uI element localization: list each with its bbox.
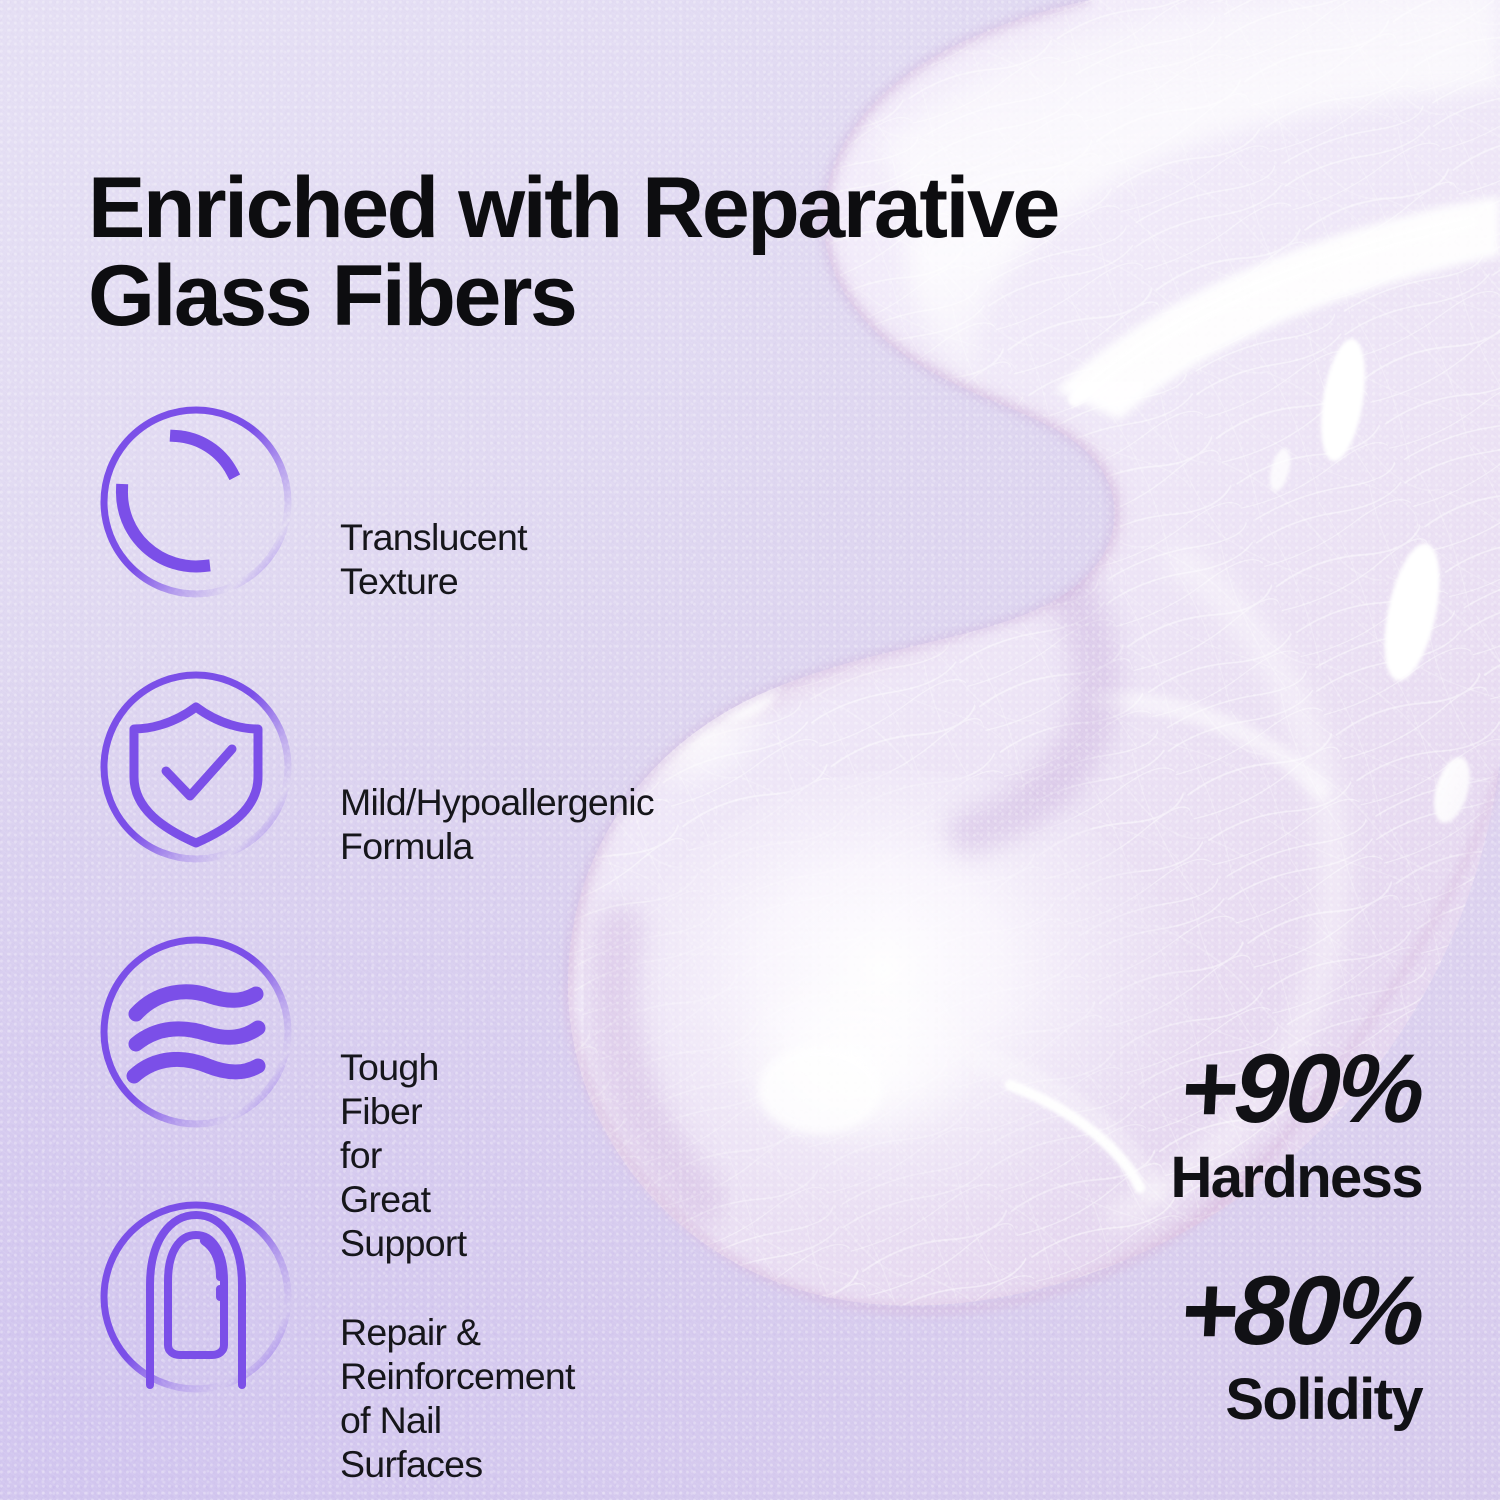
- translucent-drop-icon: [92, 398, 300, 606]
- feature-label: Translucent Texture: [340, 516, 527, 604]
- stat-value: +80%: [1168, 1262, 1425, 1358]
- stats-block: +90% Hardness +80% Solidity: [1170, 1040, 1422, 1432]
- stat-label: Solidity: [1170, 1368, 1422, 1432]
- feature-label: Mild/Hypoallergenic Formula: [340, 781, 654, 869]
- stat-solidity: +80% Solidity: [1170, 1262, 1422, 1432]
- feature-label: Repair & Reinforcement of Nail Surfaces: [340, 1311, 575, 1487]
- stat-value: +90%: [1168, 1040, 1425, 1136]
- fingernail-icon: [92, 1193, 300, 1401]
- stat-hardness: +90% Hardness: [1170, 1040, 1422, 1210]
- product-feature-banner: Enriched with Reparative Glass Fibers: [0, 0, 1500, 1500]
- shield-check-icon: [92, 663, 300, 871]
- page-title: Enriched with Reparative Glass Fibers: [88, 164, 1268, 341]
- stat-label: Hardness: [1170, 1146, 1422, 1210]
- fiber-waves-icon: [92, 928, 300, 1136]
- feature-label: Tough Fiber for Great Support: [340, 1046, 466, 1265]
